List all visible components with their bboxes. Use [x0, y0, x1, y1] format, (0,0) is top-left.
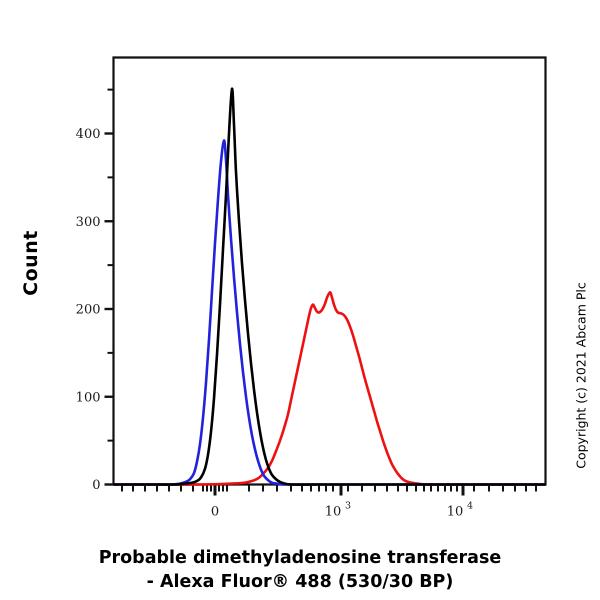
histogram-plot-area: 01002003004000103104 [0, 0, 600, 600]
svg-text:3: 3 [345, 501, 351, 512]
y-tick-label: 300 [76, 215, 101, 230]
figure-caption: Probable dimethyladenosine transferase -… [0, 546, 600, 594]
x-tick-label: 0 [211, 505, 219, 520]
svg-text:10: 10 [447, 505, 464, 520]
x-tick-label: 103 [325, 501, 351, 520]
svg-text:4: 4 [467, 501, 473, 512]
axis-tick-labels: 01002003004000103104 [76, 127, 473, 520]
histogram-curves [113, 89, 545, 485]
histogram-trace [113, 141, 545, 485]
y-tick-label: 100 [76, 390, 101, 405]
plot-axes [105, 58, 546, 496]
y-tick-label: 400 [76, 127, 101, 142]
caption-line-1: Probable dimethyladenosine transferase [99, 548, 502, 568]
y-tick-label: 0 [92, 478, 100, 493]
caption-line-2: - Alexa Fluor® 488 (530/30 BP) [0, 570, 600, 594]
y-tick-label: 200 [76, 303, 101, 318]
svg-text:10: 10 [325, 505, 342, 520]
x-tick-label: 104 [447, 501, 473, 520]
flow-cytometry-histogram-figure: Count Copyright (c) 2021 Abcam Plc 01002… [0, 0, 600, 600]
svg-text:0: 0 [211, 505, 219, 520]
histogram-trace [113, 292, 545, 484]
histogram-trace [113, 89, 545, 485]
